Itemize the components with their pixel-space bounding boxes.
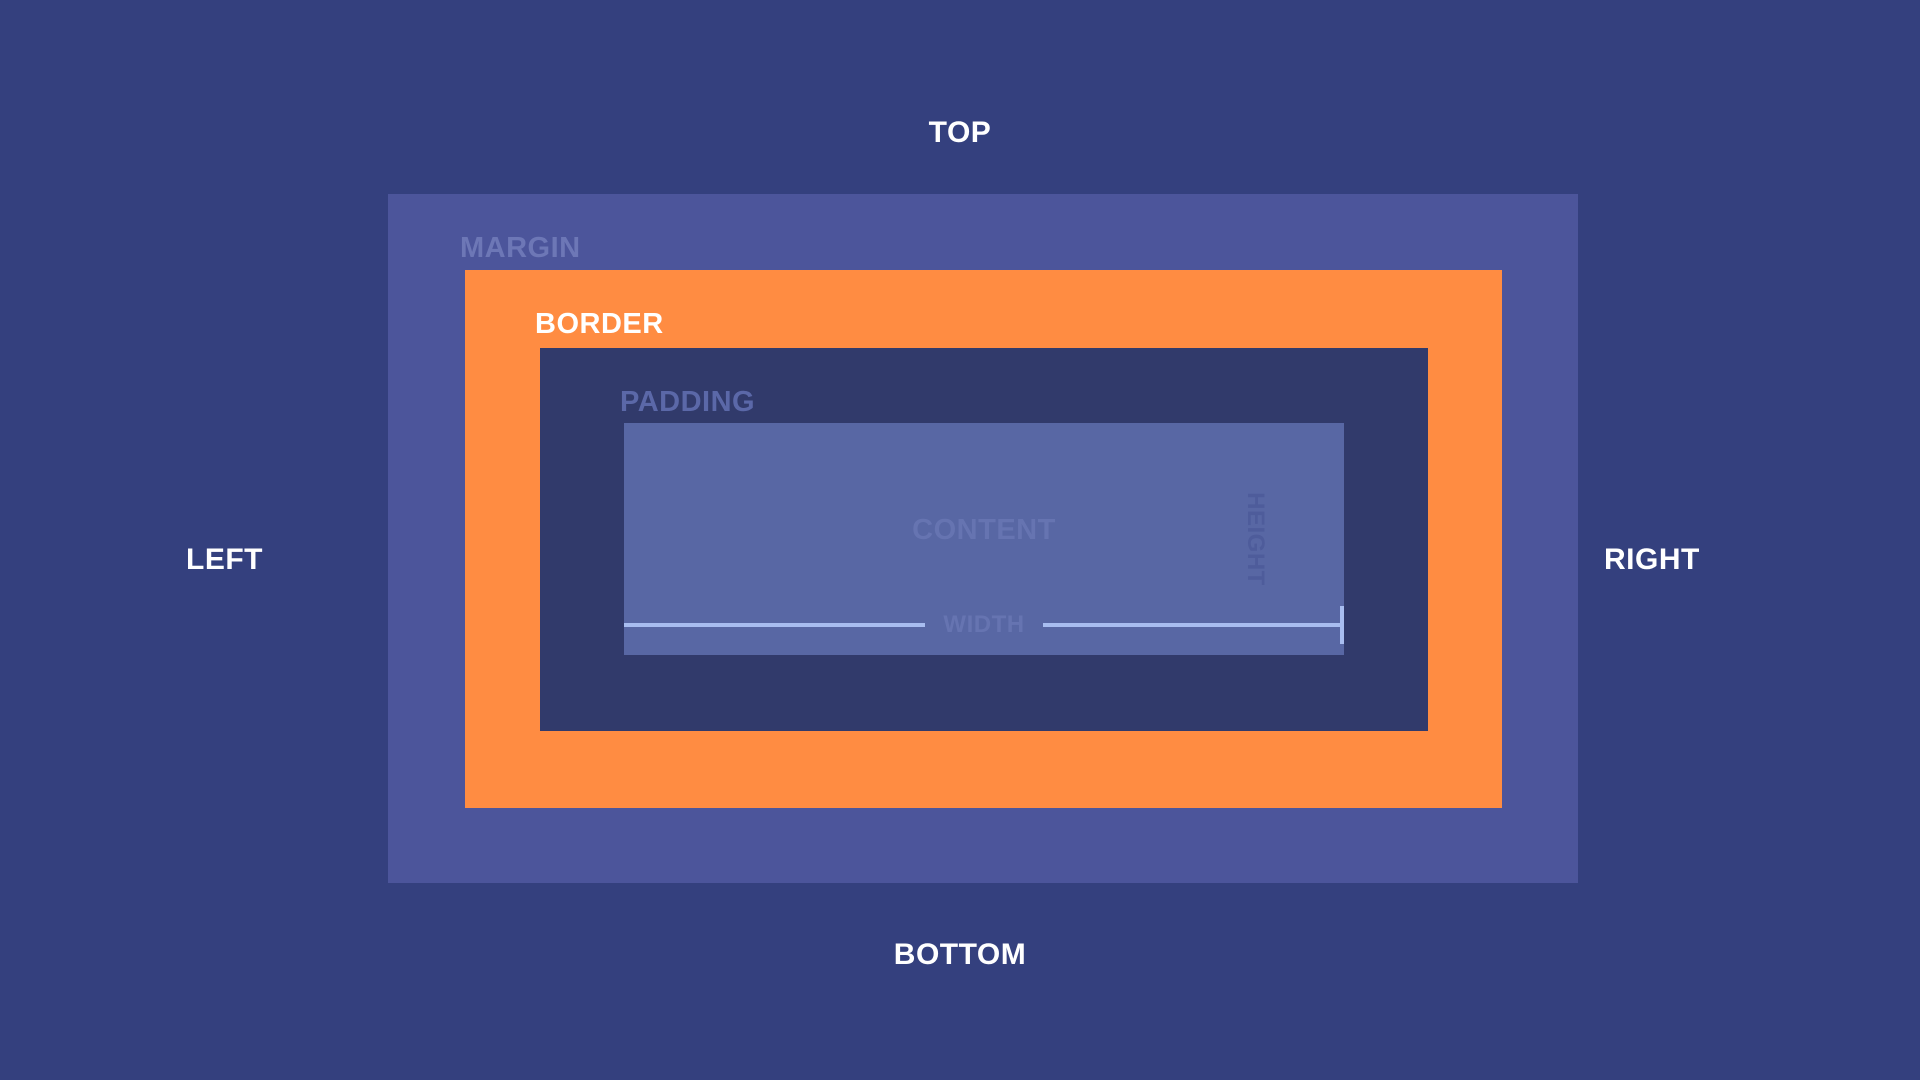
margin-box: MARGIN BORDER PADDING CONTENT HEIGHT WID… bbox=[388, 194, 1578, 883]
content-box-label: CONTENT bbox=[624, 516, 1344, 545]
padding-box: PADDING CONTENT HEIGHT WIDTH bbox=[540, 348, 1428, 731]
width-rule-line-left bbox=[624, 623, 925, 627]
edge-label-top: TOP bbox=[0, 118, 1920, 148]
height-dimension-label: HEIGHT bbox=[1243, 492, 1267, 586]
width-rule-line-right bbox=[1043, 623, 1344, 627]
border-box-label: BORDER bbox=[535, 310, 664, 339]
edge-label-left: LEFT bbox=[186, 545, 263, 575]
width-rule-end-tick bbox=[1340, 606, 1344, 644]
border-box: BORDER PADDING CONTENT HEIGHT WIDTH bbox=[465, 270, 1502, 808]
edge-label-right: RIGHT bbox=[1604, 545, 1700, 575]
width-dimension-label: WIDTH bbox=[925, 613, 1042, 637]
width-dimension-ruler: WIDTH bbox=[624, 615, 1344, 635]
margin-box-label: MARGIN bbox=[460, 234, 581, 263]
padding-box-label: PADDING bbox=[620, 388, 755, 417]
edge-label-bottom: BOTTOM bbox=[0, 940, 1920, 970]
content-box: CONTENT HEIGHT WIDTH bbox=[624, 423, 1344, 655]
box-model-diagram: TOP LEFT RIGHT BOTTOM MARGIN BORDER PADD… bbox=[0, 0, 1920, 1080]
